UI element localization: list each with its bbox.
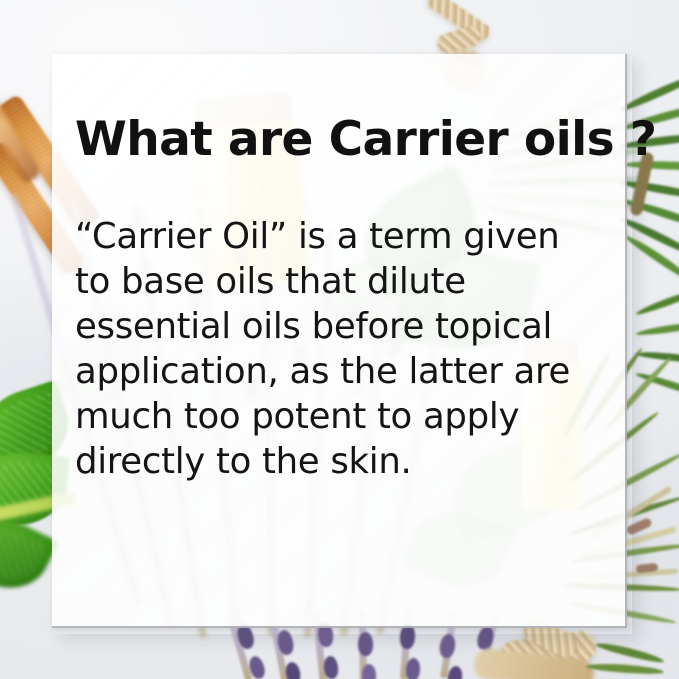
body-paragraph: “Carrier Oil” is a term given to base oi… [75, 214, 599, 484]
content-card: What are Carrier oils ? “Carrier Oil” is… [52, 54, 627, 628]
body-line: essential oils before topical [75, 304, 599, 349]
body-line: much too potent to apply [75, 394, 599, 439]
page-title: What are Carrier oils ? [75, 116, 599, 164]
graphic-canvas: What are Carrier oils ? “Carrier Oil” is… [0, 0, 679, 679]
body-line: “Carrier Oil” is a term given [75, 214, 599, 259]
body-line: to base oils that dilute [75, 259, 599, 304]
body-line: application, as the latter are [75, 349, 599, 394]
body-line: directly to the skin. [75, 439, 599, 484]
